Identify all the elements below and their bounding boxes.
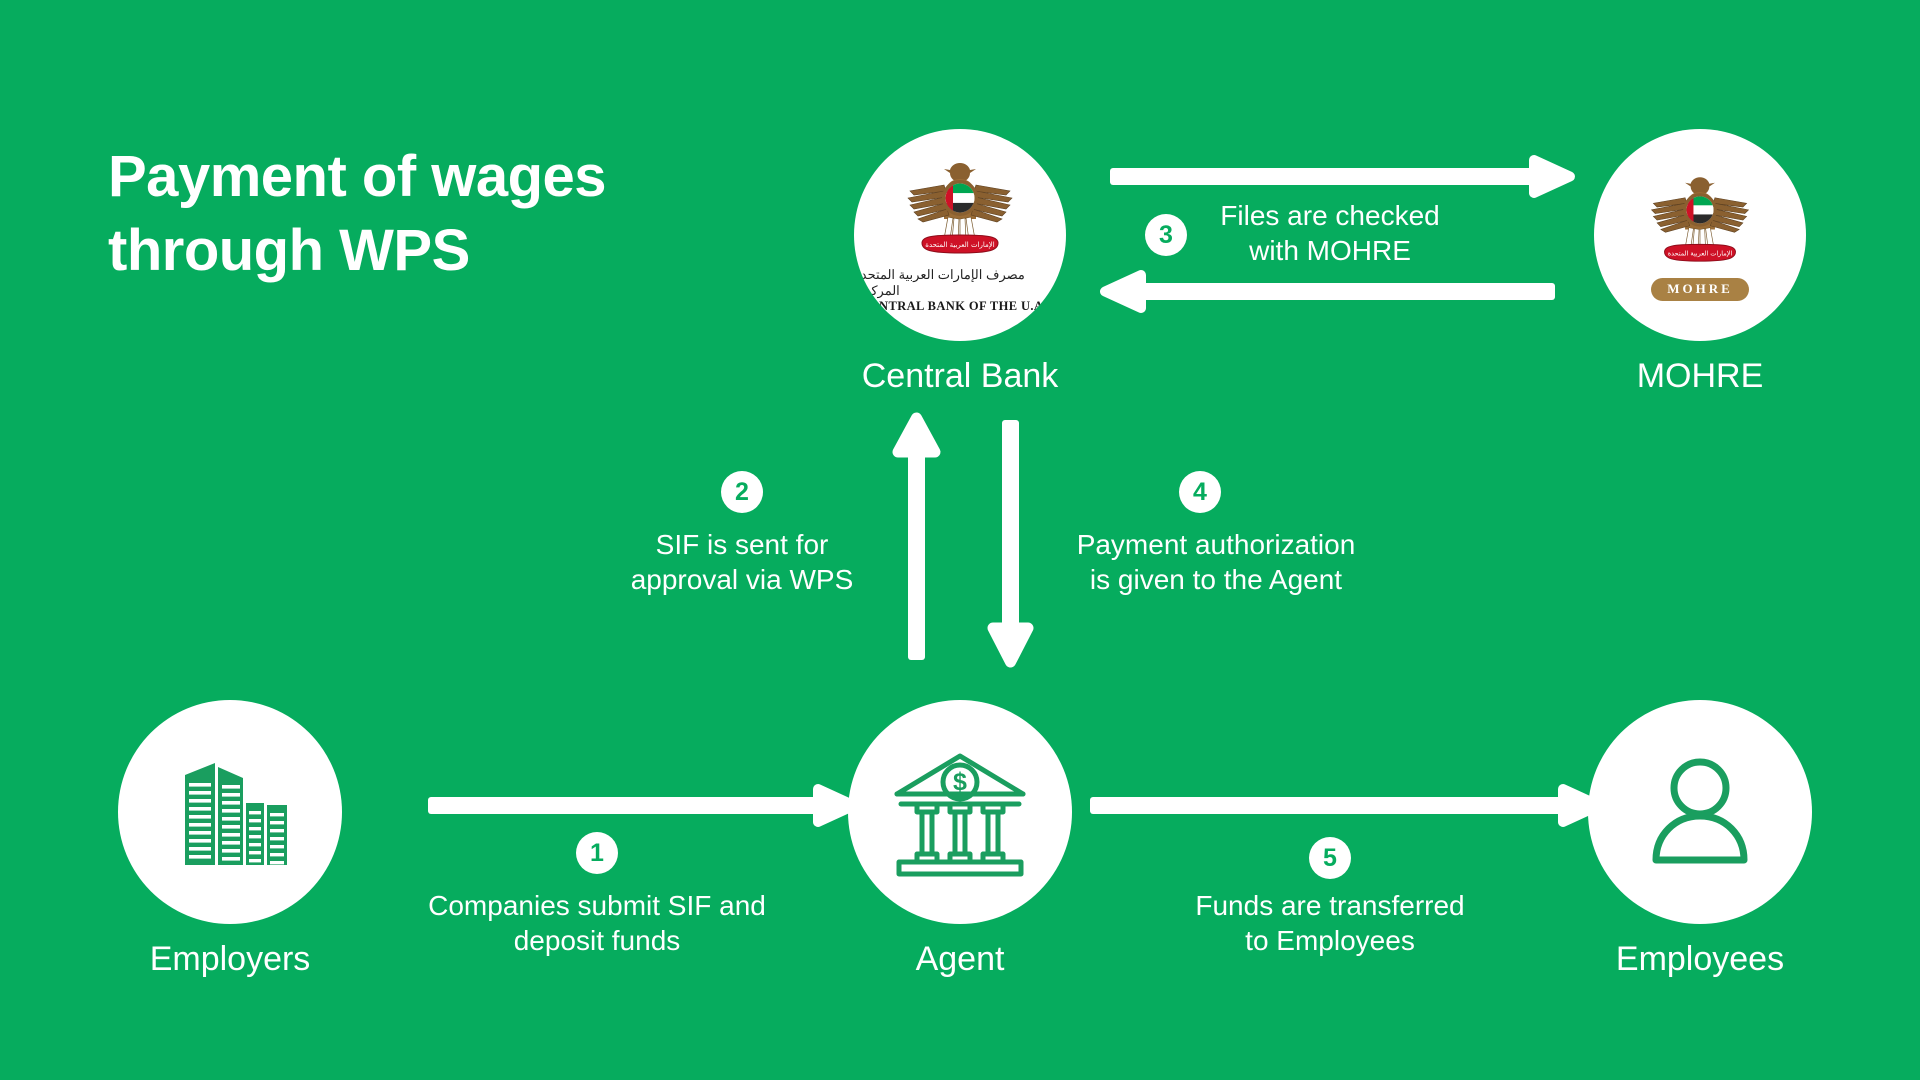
node-label-employees: Employees — [1616, 940, 1784, 979]
arrow-employers-to-agent — [428, 789, 854, 822]
uae-falcon-emblem-icon: الإمارات العربية المتحدة — [1644, 170, 1756, 274]
step-badge-5: 5 — [1309, 837, 1351, 879]
uae-falcon-emblem-icon: الإمارات العربية المتحدة — [900, 157, 1020, 265]
node-employers[interactable]: Employers — [118, 700, 342, 924]
svg-text:الإمارات العربية المتحدة: الإمارات العربية المتحدة — [1668, 249, 1733, 257]
arrow-agent-to-employees — [1090, 789, 1599, 822]
svg-text:الإمارات العربية المتحدة: الإمارات العربية المتحدة — [925, 241, 994, 249]
node-label-employers: Employers — [150, 940, 311, 979]
page-title: Payment of wages through WPS — [108, 140, 808, 288]
person-icon — [1631, 743, 1769, 881]
arrow-mohre-to-central-bank — [1105, 275, 1555, 308]
node-label-central-bank: Central Bank — [862, 357, 1059, 396]
step-badge-1: 1 — [576, 832, 618, 874]
office-buildings-icon — [163, 745, 297, 879]
employees-circle — [1588, 700, 1812, 924]
node-agent[interactable]: $ Agent — [848, 700, 1072, 924]
node-label-mohre: MOHRE — [1637, 357, 1764, 396]
step-caption-4: Payment authorization is given to the Ag… — [976, 527, 1456, 598]
node-mohre[interactable]: الإمارات العربية المتحدة MOHRE MOHRE — [1594, 129, 1806, 341]
bank-icon: $ — [889, 746, 1031, 878]
agent-circle: $ — [848, 700, 1072, 924]
diagram-canvas: Payment of wages through WPS — [0, 0, 1920, 1080]
arrow-central-bank-to-mohre — [1110, 160, 1570, 193]
node-central-bank[interactable]: الإمارات العربية المتحدة مصرف الإمارات ا… — [854, 129, 1066, 341]
step-caption-3: Files are checked with MOHRE — [1120, 198, 1540, 269]
node-label-agent: Agent — [916, 940, 1005, 979]
central-bank-latin-text: CENTRAL BANK OF THE U.A.E. — [861, 299, 1059, 314]
node-employees[interactable]: Employees — [1588, 700, 1812, 924]
step-caption-2: SIF is sent for approval via WPS — [532, 527, 952, 598]
step-caption-1: Companies submit SIF and deposit funds — [357, 888, 837, 959]
step-badge-2: 2 — [721, 471, 763, 513]
step-caption-5: Funds are transferred to Employees — [1090, 888, 1570, 959]
uae-central-bank-emblem: الإمارات العربية المتحدة مصرف الإمارات ا… — [854, 129, 1066, 341]
mohre-circle: الإمارات العربية المتحدة MOHRE — [1594, 129, 1806, 341]
employers-circle — [118, 700, 342, 924]
central-bank-arabic-text: مصرف الإمارات العربية المتحدة المركزي — [854, 267, 1066, 299]
central-bank-circle: الإمارات العربية المتحدة مصرف الإمارات ا… — [854, 129, 1066, 341]
svg-text:$: $ — [953, 768, 967, 796]
step-badge-4: 4 — [1179, 471, 1221, 513]
uae-mohre-emblem: الإمارات العربية المتحدة MOHRE — [1594, 129, 1806, 341]
mohre-badge-text: MOHRE — [1651, 278, 1749, 301]
